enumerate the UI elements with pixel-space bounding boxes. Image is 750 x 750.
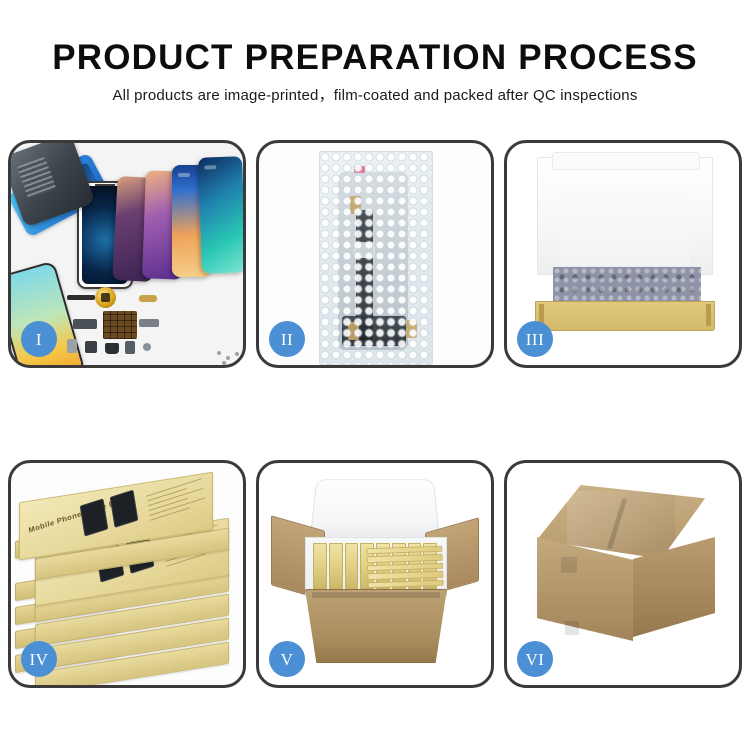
- product-preparation-infographic: PRODUCT PREPARATION PROCESS All products…: [0, 0, 750, 750]
- spare-part-lens: [143, 343, 151, 351]
- step-badge-iv: IV: [21, 641, 57, 677]
- step-badge-iii: III: [517, 321, 553, 357]
- spare-part-motor: [105, 343, 119, 354]
- box-spec-lines-1: [146, 474, 207, 524]
- step-badge-vi: VI: [517, 641, 553, 677]
- carton-tab-lower: [565, 621, 579, 635]
- bubble-wrap-bag: [319, 151, 433, 365]
- step-card-iii: III: [504, 140, 742, 368]
- carton-body: [305, 589, 447, 663]
- spare-part-flex: [139, 319, 159, 327]
- spare-part-camera: [67, 339, 77, 353]
- spare-part-bracket: [73, 319, 97, 329]
- white-box-lid: [537, 157, 713, 275]
- step-badge-ii: II: [269, 321, 305, 357]
- spare-part-speaker: [85, 341, 97, 353]
- header: PRODUCT PREPARATION PROCESS All products…: [0, 0, 750, 105]
- styrofoam-lid: [309, 479, 441, 544]
- spare-part-connector: [139, 295, 157, 302]
- step-card-v: V: [256, 460, 494, 688]
- spare-part-strip: [67, 295, 95, 300]
- fan-phone-4: [198, 156, 243, 273]
- step-card-iv: Mobile Phone Spare Parts Mobile Phone Sp…: [8, 460, 246, 688]
- carton-left-face: [537, 537, 633, 641]
- process-steps-grid: I II: [8, 140, 742, 740]
- step-badge-v: V: [269, 641, 305, 677]
- step-card-i: I: [8, 140, 246, 368]
- page-subtitle: All products are image-printed，film-coat…: [0, 78, 750, 105]
- spare-part-button: [125, 341, 135, 354]
- box-screen-icon-2: [110, 490, 139, 528]
- bubble-texture: [320, 152, 432, 364]
- yellow-boxes-row-2: [366, 546, 443, 589]
- grey-foam-padding: [553, 267, 701, 303]
- box-screen-icon-1: [80, 498, 109, 536]
- chip-array-part: [103, 311, 137, 339]
- step-badge-i: I: [21, 321, 57, 357]
- gold-coil-part: [95, 287, 116, 308]
- kraft-box-front: [535, 301, 715, 331]
- step-card-ii: II: [256, 140, 494, 368]
- screws-group: [217, 351, 241, 365]
- page-title: PRODUCT PREPARATION PROCESS: [0, 0, 750, 78]
- carton-tab-upper: [561, 557, 577, 573]
- step-card-vi: VI: [504, 460, 742, 688]
